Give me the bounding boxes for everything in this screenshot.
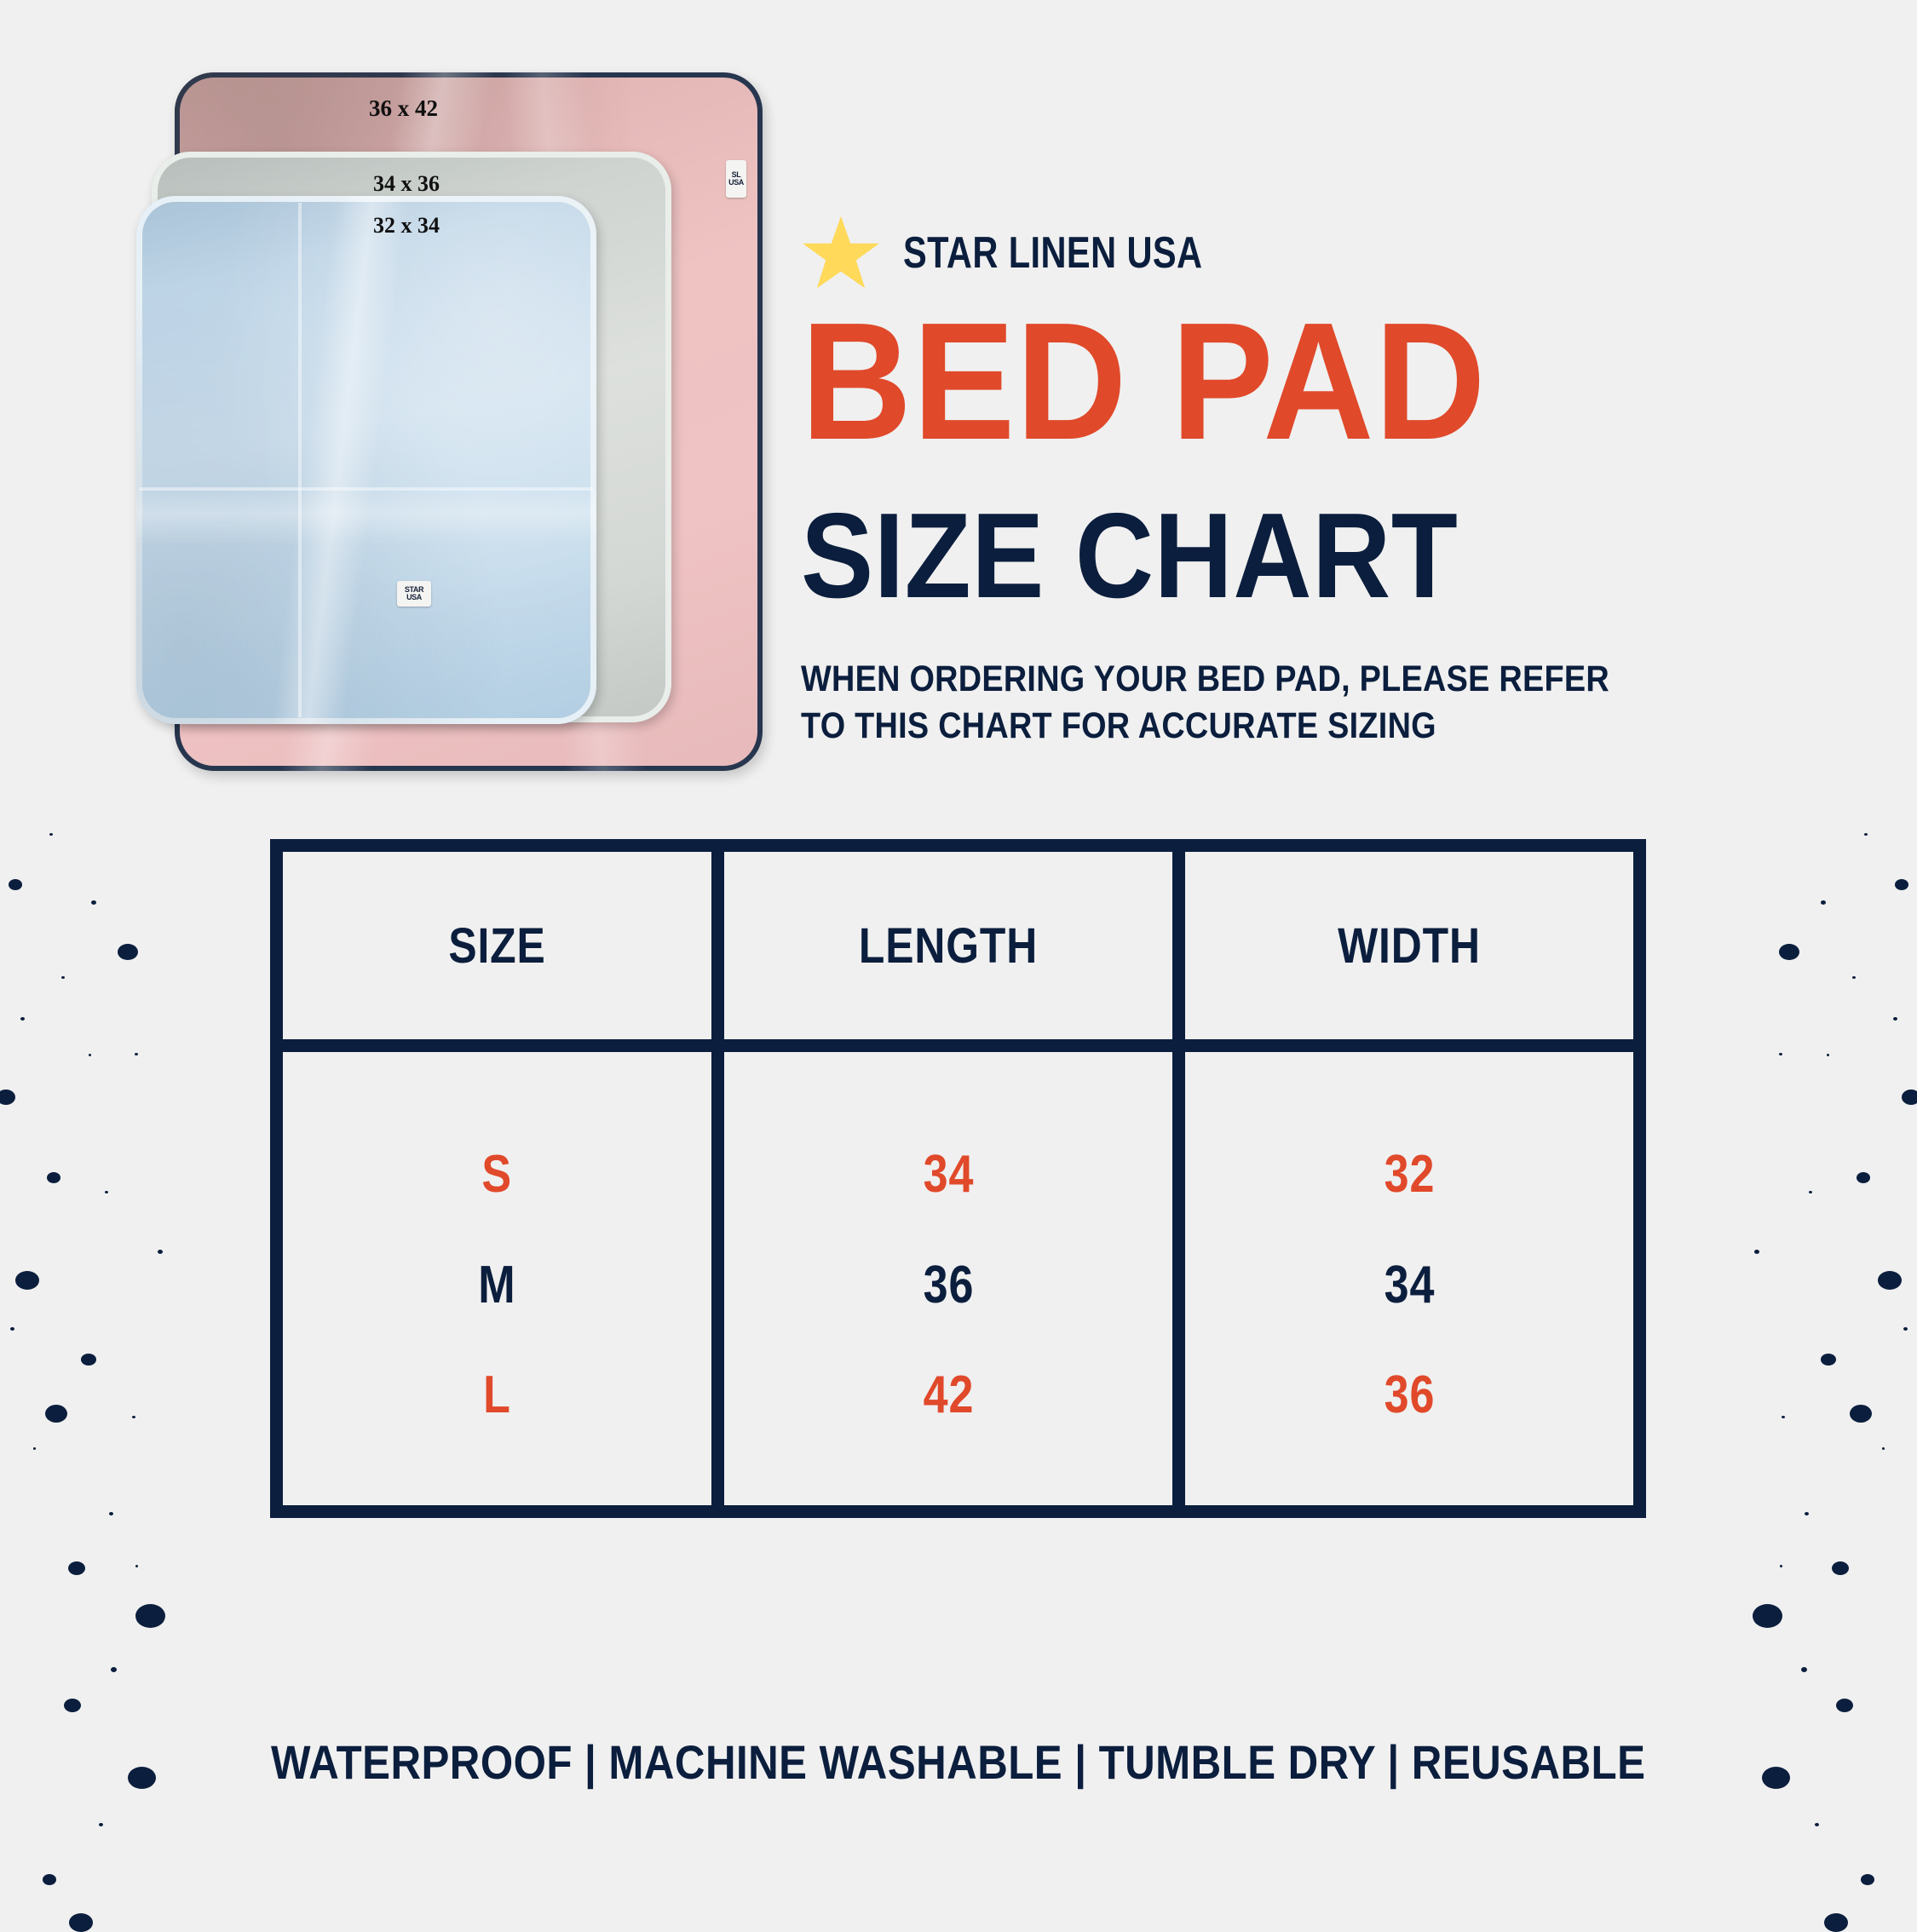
decorative-dot (1753, 1604, 1782, 1628)
column-size: S M L (283, 1052, 711, 1518)
pad-crease-vertical (298, 203, 302, 717)
decorative-dot (43, 1874, 56, 1885)
table-divider-vertical-1 (711, 852, 724, 1039)
decorative-dot (1824, 1913, 1848, 1932)
decorative-dot (61, 976, 65, 979)
product-brand-tab-small: STARUSA (397, 581, 431, 607)
decorative-dot (9, 879, 22, 890)
decorative-dot (15, 1271, 39, 1290)
decorative-dot (135, 1053, 138, 1055)
decorative-dot (0, 1090, 15, 1105)
description: WHEN ORDERING YOUR BED PAD, PLEASE REFER… (801, 656, 1551, 750)
decorative-dot (109, 1512, 113, 1515)
decorative-dot (105, 1191, 108, 1193)
page-subtitle: SIZE CHART (801, 499, 1458, 612)
column-width: 32 34 36 (1185, 1052, 1633, 1518)
decorative-dot (1882, 1447, 1885, 1450)
decorative-dot (1815, 1823, 1819, 1826)
pad-crease-horizontal (140, 487, 593, 491)
table-divider-vertical-3 (711, 1052, 724, 1518)
decorative-dot (1902, 1090, 1917, 1105)
decorative-dot (64, 1699, 81, 1712)
column-header-size: SIZE (313, 852, 682, 1039)
decorative-dot (1801, 1667, 1807, 1672)
table-header-row: SIZE LENGTH WIDTH (283, 852, 1633, 1039)
decorative-dot (69, 1913, 93, 1932)
cell-length-l: 42 (923, 1369, 974, 1422)
column-length: 34 36 42 (724, 1052, 1172, 1518)
decorative-dot (1827, 1054, 1829, 1056)
footer-features-text: WATERPROOF | MACHINE WASHABLE | TUMBLE D… (271, 1734, 1645, 1790)
description-line-2: TO THIS CHART FOR ACCURATE SIZING (801, 703, 1551, 750)
decorative-dot (33, 1447, 36, 1450)
decorative-dot (1903, 1327, 1908, 1331)
decorative-dot (20, 1017, 25, 1021)
decorative-dot (1805, 1512, 1809, 1515)
decorative-dot (1754, 1250, 1759, 1254)
brand-lockup: STAR LINEN USA (801, 215, 1277, 291)
decorative-dot (1809, 1191, 1812, 1193)
star-icon (801, 215, 881, 291)
decorative-dot (1864, 833, 1868, 836)
decorative-dot (1832, 1561, 1849, 1575)
column-header-length: LENGTH (756, 852, 1141, 1039)
pad-small-sheen (136, 196, 596, 724)
cell-length-m: 36 (923, 1259, 974, 1312)
product-photo: 36 x 42 34 x 36 32 x 34 SLUSA STARUSA (128, 51, 801, 784)
decorative-dot (99, 1823, 103, 1826)
decorative-dot (1852, 976, 1856, 979)
decorative-dot (68, 1561, 85, 1575)
decorative-dot (10, 1327, 14, 1331)
decorative-dot (1821, 900, 1826, 905)
decorative-dot (1779, 1053, 1782, 1055)
cell-width-l: 36 (1384, 1369, 1435, 1422)
size-chart-table: SIZE LENGTH WIDTH S M L 34 36 42 32 34 (270, 839, 1646, 1518)
decorative-dot (1861, 1874, 1874, 1885)
decorative-dot (1836, 1699, 1853, 1712)
decorative-dot (91, 900, 96, 905)
decorative-dot (1893, 1017, 1897, 1021)
decorative-dot (1780, 1565, 1782, 1567)
decorative-dot (135, 1565, 138, 1567)
table-body: S M L 34 36 42 32 34 36 (283, 1052, 1633, 1518)
decorative-dot (135, 1604, 165, 1628)
cell-length-s: 34 (923, 1148, 974, 1201)
table-divider-vertical-4 (1172, 1052, 1185, 1518)
decorative-dot (45, 1405, 67, 1423)
decorative-dot (1878, 1271, 1902, 1290)
page-title: BED PAD (801, 305, 1487, 458)
decorative-dots-right (1627, 0, 1917, 1917)
decorative-dot (111, 1667, 117, 1672)
description-line-1: WHEN ORDERING YOUR BED PAD, PLEASE REFER (801, 656, 1551, 703)
decorative-dot (118, 944, 138, 960)
cell-size-m: M (478, 1259, 515, 1312)
table-divider-horizontal (283, 1039, 1633, 1052)
photo-size-label-large: 36 x 42 (369, 95, 438, 122)
decorative-dot (89, 1054, 91, 1056)
column-header-width: WIDTH (1217, 852, 1602, 1039)
brand-name: STAR LINEN USA (903, 227, 1203, 279)
decorative-dot (1821, 1354, 1836, 1366)
cell-width-s: 32 (1384, 1148, 1435, 1201)
cell-width-m: 34 (1384, 1259, 1435, 1312)
decorative-dot (158, 1250, 163, 1254)
decorative-dot (47, 1172, 60, 1183)
decorative-dot (1857, 1172, 1870, 1183)
decorative-dot (132, 1416, 135, 1418)
cell-size-l: L (483, 1369, 511, 1422)
decorative-dot (1779, 944, 1799, 960)
poster-canvas: 36 x 42 34 x 36 32 x 34 SLUSA STARUSA ST… (0, 0, 1917, 1917)
footer-features: WATERPROOF | MACHINE WASHABLE | TUMBLE D… (0, 1734, 1917, 1790)
product-brand-tab-large: SLUSA (726, 160, 746, 198)
decorative-dot (49, 833, 53, 836)
photo-size-label-small: 32 x 34 (373, 213, 440, 239)
decorative-dot (1782, 1416, 1785, 1418)
photo-size-label-medium: 34 x 36 (373, 171, 440, 197)
decorative-dot (1850, 1405, 1872, 1423)
decorative-dot (1895, 879, 1908, 890)
cell-size-s: S (482, 1148, 513, 1201)
table-divider-vertical-2 (1172, 852, 1185, 1039)
decorative-dot (81, 1354, 96, 1366)
